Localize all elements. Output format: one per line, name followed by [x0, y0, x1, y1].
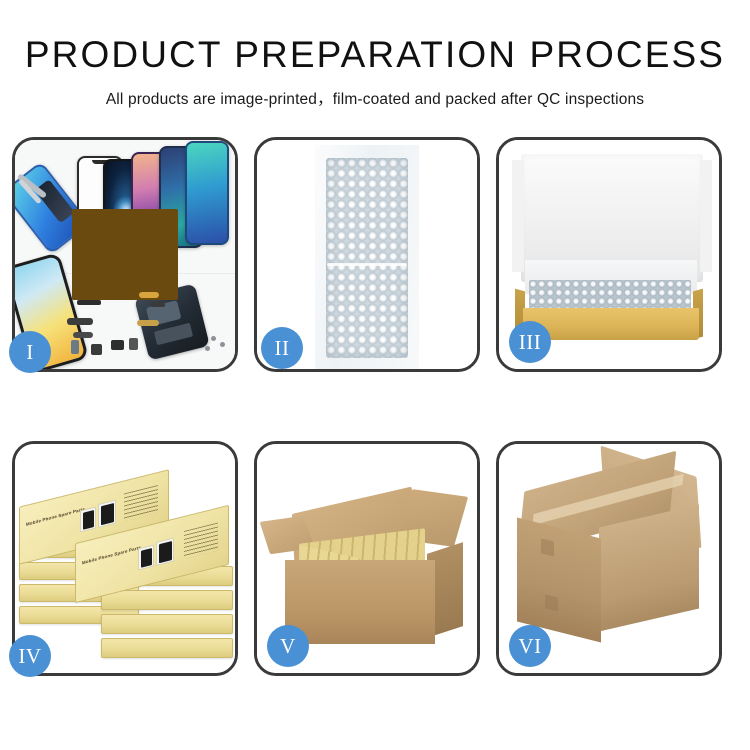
- step-panel-5: V: [254, 441, 480, 676]
- sealed-carton-tab: [545, 594, 558, 611]
- step-badge-1: I: [9, 331, 51, 373]
- box-label-text: Mobile Phone Spare Parts: [26, 506, 85, 527]
- step-badge-3: III: [509, 321, 551, 363]
- page-subtitle: All products are image-printed，film-coat…: [0, 75, 750, 109]
- box-label-screen-image: [98, 500, 116, 528]
- bubble-wrap-sheet-icon: [315, 145, 419, 369]
- step-badge-6: VI: [509, 625, 551, 667]
- phone-screen-green-icon: [185, 141, 229, 245]
- screw-icon: [211, 336, 216, 341]
- step-1-image: [15, 140, 235, 369]
- part-cable-3-icon: [137, 320, 159, 326]
- box-stack-icon: Mobile Phone Spare Parts Mobile Phone Sp…: [19, 462, 235, 662]
- box-label-screen-image: [156, 538, 174, 566]
- box-label-spec-lines: [184, 523, 218, 559]
- header: PRODUCT PREPARATION PROCESS All products…: [0, 0, 750, 109]
- bubble-wrap-seam: [327, 263, 407, 266]
- bubble-wrap-bubbles: [326, 158, 408, 358]
- screw-icon: [205, 346, 210, 351]
- part-chip-2-icon: [129, 338, 138, 350]
- step-panel-4: Mobile Phone Spare Parts Mobile Phone Sp…: [12, 441, 238, 676]
- part-strip-icon: [77, 300, 101, 305]
- step-badge-5: V: [267, 625, 309, 667]
- process-steps-grid: I II: [12, 137, 738, 676]
- part-cable-2-icon: [73, 332, 93, 338]
- step-panel-6: VI: [496, 441, 722, 676]
- part-flex-cable-2-icon: [151, 302, 165, 307]
- step-numeral: II: [275, 336, 290, 361]
- screw-icon: [220, 342, 225, 347]
- step-panel-2: II: [254, 137, 480, 372]
- stacked-box-slab: [101, 614, 233, 634]
- part-chip-1-icon: [111, 340, 124, 350]
- part-chip-3-icon: [91, 344, 102, 355]
- box-label-text: Mobile Phone Spare Parts: [82, 545, 141, 566]
- stacked-box-slab: [101, 590, 233, 610]
- box-label-screen-image: [138, 545, 154, 571]
- step-numeral: I: [26, 340, 34, 365]
- step-panel-1: I: [12, 137, 238, 372]
- step-numeral: V: [280, 634, 296, 659]
- stacked-box-slab: [101, 638, 233, 658]
- sealed-carton-right-face: [599, 504, 699, 631]
- step-badge-4: IV: [9, 635, 51, 677]
- part-flex-cable-1-icon: [139, 292, 159, 298]
- product-preparation-infographic: PRODUCT PREPARATION PROCESS All products…: [0, 0, 750, 750]
- step-numeral: III: [519, 330, 541, 355]
- part-camera-module-icon: [71, 340, 79, 354]
- step-4-image: Mobile Phone Spare Parts Mobile Phone Sp…: [15, 444, 235, 673]
- page-title: PRODUCT PREPARATION PROCESS: [0, 0, 750, 75]
- sealed-carton-tab: [541, 538, 554, 556]
- step-numeral: VI: [518, 634, 541, 659]
- step-badge-2: II: [261, 327, 303, 369]
- step-panel-3: III: [496, 137, 722, 372]
- step-numeral: IV: [18, 644, 41, 669]
- box-label-screen-image: [80, 507, 96, 533]
- box-label-spec-lines: [124, 485, 158, 521]
- sealed-carton-front-face: [517, 518, 601, 643]
- carton-front-face: [285, 560, 435, 644]
- part-cable-1-icon: [67, 318, 93, 325]
